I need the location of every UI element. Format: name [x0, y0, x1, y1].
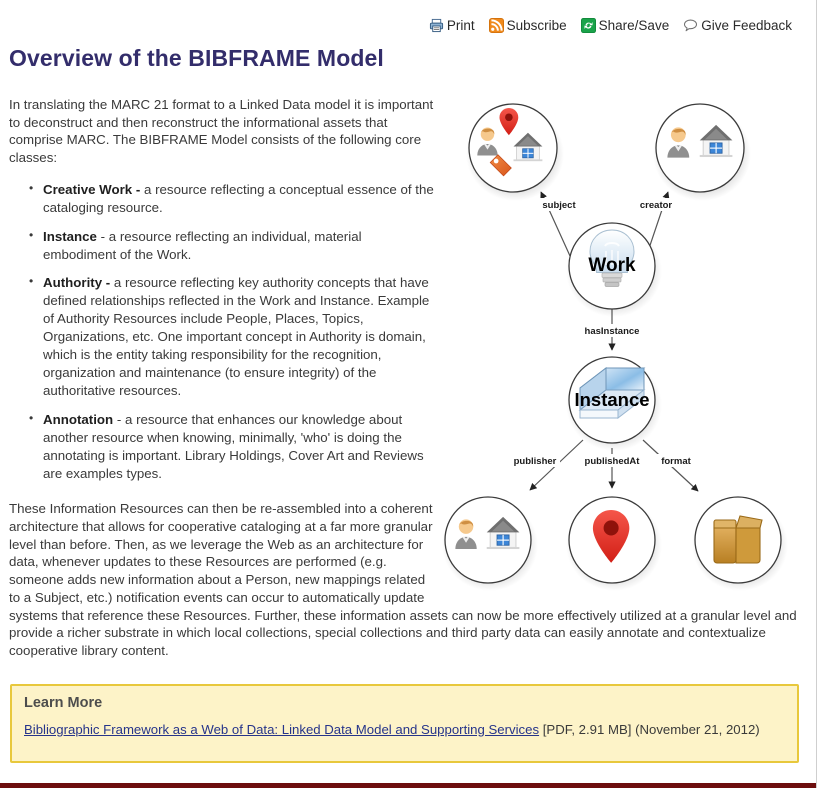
bibframe-model-diagram: subject creator hasInstance publisher pu… — [440, 88, 800, 598]
list-item: Annotation - a resource that enhances ou… — [31, 411, 437, 483]
subscribe-button[interactable]: Subscribe — [489, 18, 567, 33]
share-icon — [581, 18, 596, 33]
learn-more-box: Learn More Bibliographic Framework as a … — [10, 684, 799, 763]
edge-label-creator: creator — [640, 200, 673, 211]
page-tools-toolbar: Print Subscribe Share/Sav — [429, 18, 792, 33]
page-right-gutter — [818, 0, 828, 788]
learn-more-link[interactable]: Bibliographic Framework as a Web of Data… — [24, 722, 539, 737]
core-classes-list: Creative Work - a resource reflecting a … — [9, 181, 437, 483]
diagram-node-work[interactable]: Work — [566, 223, 662, 317]
diagram-node-publisher[interactable] — [442, 497, 538, 591]
edge-label-publisher: publisher — [514, 456, 557, 467]
share-save-button[interactable]: Share/Save — [581, 18, 670, 33]
edge-label-subject: subject — [542, 200, 576, 211]
page-title: Overview of the BIBFRAME Model — [9, 45, 384, 72]
learn-more-meta: [PDF, 2.91 MB] (November 21, 2012) — [539, 722, 760, 737]
page-content: Print Subscribe Share/Sav — [0, 0, 817, 788]
diagram-node-creator[interactable] — [653, 104, 751, 201]
list-item: Creative Work - a resource reflecting a … — [31, 181, 437, 217]
core-class-term: Instance — [43, 229, 97, 244]
edge-label-hasinstance: hasInstance — [585, 326, 640, 337]
learn-more-line: Bibliographic Framework as a Web of Data… — [24, 722, 785, 737]
rss-icon — [489, 18, 504, 33]
diagram-node-format[interactable] — [692, 497, 788, 591]
print-button[interactable]: Print — [429, 18, 475, 33]
diagram-node-instance[interactable]: Instance — [566, 357, 662, 451]
print-label: Print — [447, 19, 475, 33]
diagram-node-subject[interactable] — [466, 104, 564, 201]
core-class-term: Annotation — [43, 412, 113, 427]
edge-label-format: format — [661, 456, 691, 467]
core-class-term: Creative Work - — [43, 182, 140, 197]
speech-bubble-icon — [683, 18, 698, 33]
box-icon — [714, 516, 762, 563]
node-label-work: Work — [588, 255, 636, 276]
list-item: Instance - a resource reflecting an indi… — [31, 228, 437, 264]
intro-paragraph: In translating the MARC 21 format to a L… — [9, 96, 437, 167]
diagram-node-publishedat[interactable] — [566, 497, 662, 591]
footer-accent-bar — [0, 783, 817, 788]
printer-icon — [429, 18, 444, 33]
node-label-instance: Instance — [574, 389, 649, 410]
diagram-svg: subject creator hasInstance publisher pu… — [440, 88, 800, 600]
give-feedback-button[interactable]: Give Feedback — [683, 18, 792, 33]
article-text-column: In translating the MARC 21 format to a L… — [9, 96, 437, 494]
list-item: Authority - a resource reflecting key au… — [31, 274, 437, 400]
learn-more-heading: Learn More — [24, 695, 785, 711]
core-class-desc: a resource reflecting key authority conc… — [43, 275, 429, 398]
core-class-term: Authority - — [43, 275, 110, 290]
give-feedback-label: Give Feedback — [701, 19, 792, 33]
edge-label-publishedat: publishedAt — [585, 456, 641, 467]
share-save-label: Share/Save — [599, 19, 670, 33]
subscribe-label: Subscribe — [507, 19, 567, 33]
